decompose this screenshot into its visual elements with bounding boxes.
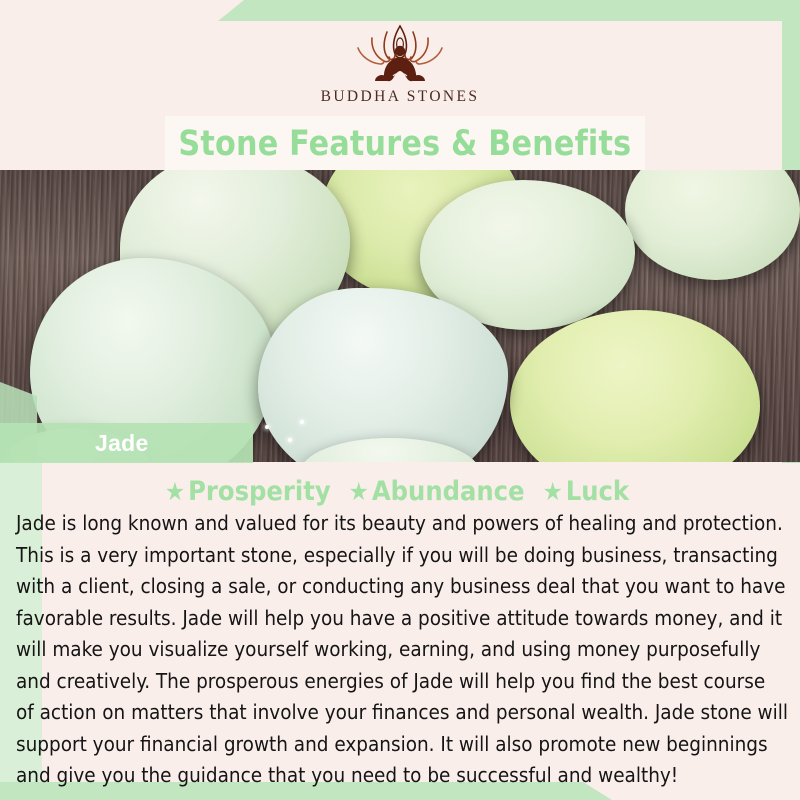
stone-photo <box>0 170 800 462</box>
description-block: Jade is long known and valued for its be… <box>16 508 788 792</box>
stone-name-label: Jade <box>95 430 149 457</box>
page-title: Stone Features & Benefits <box>179 124 632 164</box>
benefit-item-luck: Luck <box>566 476 629 507</box>
benefits-row: ★Prosperity★Abundance★Luck <box>0 476 800 507</box>
stone-shape <box>258 288 508 462</box>
stone-info-card: BUDDHA STONES Stone Features & Benefits … <box>0 0 800 800</box>
sparkle-icon <box>300 420 304 424</box>
description-paragraph: Jade is long known and valued for its be… <box>16 508 788 792</box>
star-icon: ★ <box>349 477 369 506</box>
star-icon: ★ <box>543 477 563 506</box>
benefit-item-abundance: Abundance <box>372 476 525 507</box>
sparkle-icon <box>265 425 269 429</box>
lotus-meditation-icon <box>337 22 463 84</box>
decor-top-right-band <box>218 0 800 21</box>
star-icon: ★ <box>165 477 185 506</box>
brand-logo: BUDDHA STONES <box>0 22 800 114</box>
stone-name-band: Jade <box>0 423 253 463</box>
benefit-item-prosperity: Prosperity <box>188 476 331 507</box>
title-band: Stone Features & Benefits <box>165 116 645 171</box>
sparkle-icon <box>288 438 292 442</box>
brand-name: BUDDHA STONES <box>321 88 480 106</box>
